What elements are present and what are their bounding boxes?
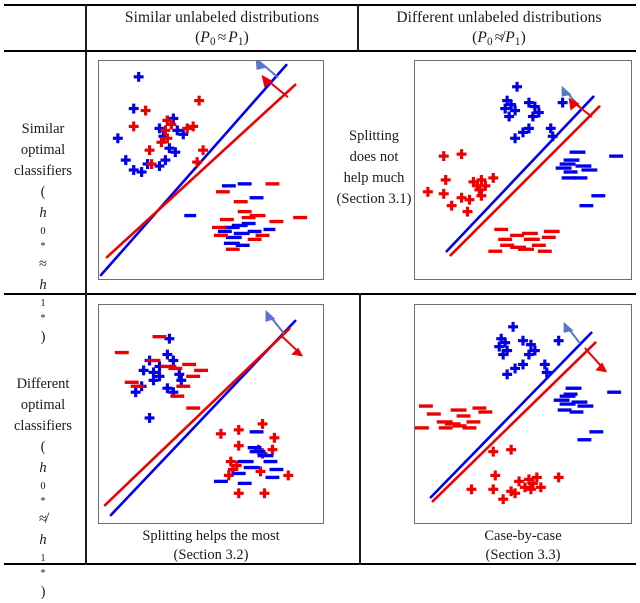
- caption-splitting-helps-the-most: Splitting helps the most (Section 3.2): [98, 527, 324, 565]
- rule-vertical-columns-row2: [359, 293, 361, 565]
- rule-vertical-label-header: [85, 4, 87, 52]
- row2-label-line1: Different: [0, 374, 86, 395]
- header-col-similar-distributions: Similar unlabeled distributions (P0≈P1): [90, 8, 354, 49]
- header-col2-line2: (P0≉P1): [362, 28, 636, 49]
- rule-vertical-columns-header: [357, 4, 359, 52]
- caption-r2c2-line1: Case-by-case: [414, 527, 632, 546]
- row1-label-line2: optimal: [0, 140, 86, 161]
- row-label-different-optimal-classifiers: Different optimal classifiers (h0*≉h1*): [0, 374, 86, 603]
- row2-label-line2: optimal: [0, 395, 86, 416]
- header-col2-line1: Different unlabeled distributions: [396, 9, 601, 26]
- row1-label-math: (h0*≈h1*): [0, 182, 86, 348]
- row1-label-line3: classifiers: [0, 161, 86, 182]
- row1-label-line1: Similar: [0, 119, 86, 140]
- text-cell-line-4: (Section 3.1): [320, 189, 428, 210]
- header-col1-line2: (P0≈P1): [90, 28, 354, 49]
- rule-top: [4, 4, 636, 6]
- plot-different-different: [414, 304, 632, 524]
- text-splitting-does-not-help: Splitting does not help much (Section 3.…: [320, 126, 428, 210]
- caption-r2c1-line2: (Section 3.2): [98, 546, 324, 565]
- header-col1-line1: Similar unlabeled distributions: [125, 9, 319, 26]
- figure-root: Similar unlabeled distributions (P0≈P1) …: [0, 0, 640, 571]
- row2-label-line3: classifiers: [0, 416, 86, 437]
- caption-r2c2-line2: (Section 3.3): [414, 546, 632, 565]
- plot-similar-similar: [98, 60, 324, 280]
- plot-similar-different: [414, 60, 632, 280]
- rule-under-header: [4, 50, 636, 52]
- text-cell-line-3: help much: [320, 168, 428, 189]
- row2-label-math: (h0*≉h1*): [0, 437, 86, 603]
- caption-r2c1-line1: Splitting helps the most: [98, 527, 324, 546]
- caption-case-by-case: Case-by-case (Section 3.3): [414, 527, 632, 565]
- text-cell-line-2: does not: [320, 147, 428, 168]
- plot-different-similar: [98, 304, 324, 524]
- rule-between-rows: [4, 293, 636, 295]
- text-cell-line-1: Splitting: [320, 126, 428, 147]
- header-col-different-distributions: Different unlabeled distributions (P0≉P1…: [362, 8, 636, 49]
- row-label-similar-optimal-classifiers: Similar optimal classifiers (h0*≈h1*): [0, 119, 86, 348]
